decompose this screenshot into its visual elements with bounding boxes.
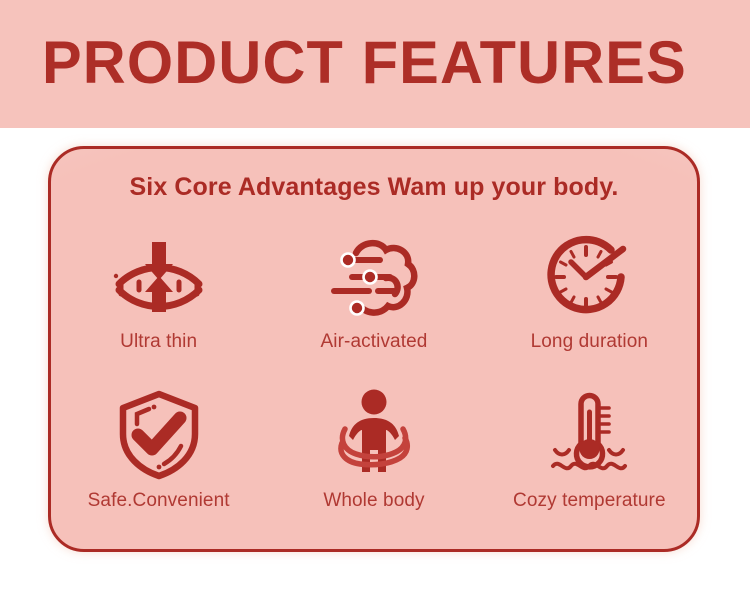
whole-body-person-wrap-icon (322, 388, 426, 480)
feature-item-safe-convenient[interactable]: Safe.Convenient (51, 382, 266, 541)
card-title: Six Core Advantages Wam up your body. (51, 173, 697, 202)
ultra-thin-compression-arrows-icon (107, 229, 211, 325)
long-duration-clock-icon (537, 229, 641, 325)
feature-item-long-duration[interactable]: Long duration (482, 223, 697, 382)
feature-label: Safe.Convenient (88, 490, 230, 512)
feature-card: Six Core Advantages Wam up your body. (48, 146, 700, 552)
feature-label: Long duration (531, 331, 649, 353)
page-title: PRODUCT FEATURES (42, 27, 687, 99)
header-band: PRODUCT FEATURES (0, 0, 750, 128)
feature-label: Whole body (323, 490, 424, 512)
feature-label: Cozy temperature (513, 490, 666, 512)
feature-item-whole-body[interactable]: Whole body (266, 382, 481, 541)
feature-grid: Ultra thin (51, 223, 697, 541)
feature-item-air-activated[interactable]: Air-activated (266, 223, 481, 382)
feature-item-ultra-thin[interactable]: Ultra thin (51, 223, 266, 382)
feature-label: Air-activated (321, 331, 428, 353)
feature-item-cozy-temperature[interactable]: Cozy temperature (482, 382, 697, 541)
air-activated-cloud-wind-icon (322, 229, 426, 325)
feature-label: Ultra thin (120, 331, 197, 353)
safe-convenient-shield-check-icon (107, 388, 211, 480)
cozy-temperature-thermometer-icon (537, 388, 641, 480)
